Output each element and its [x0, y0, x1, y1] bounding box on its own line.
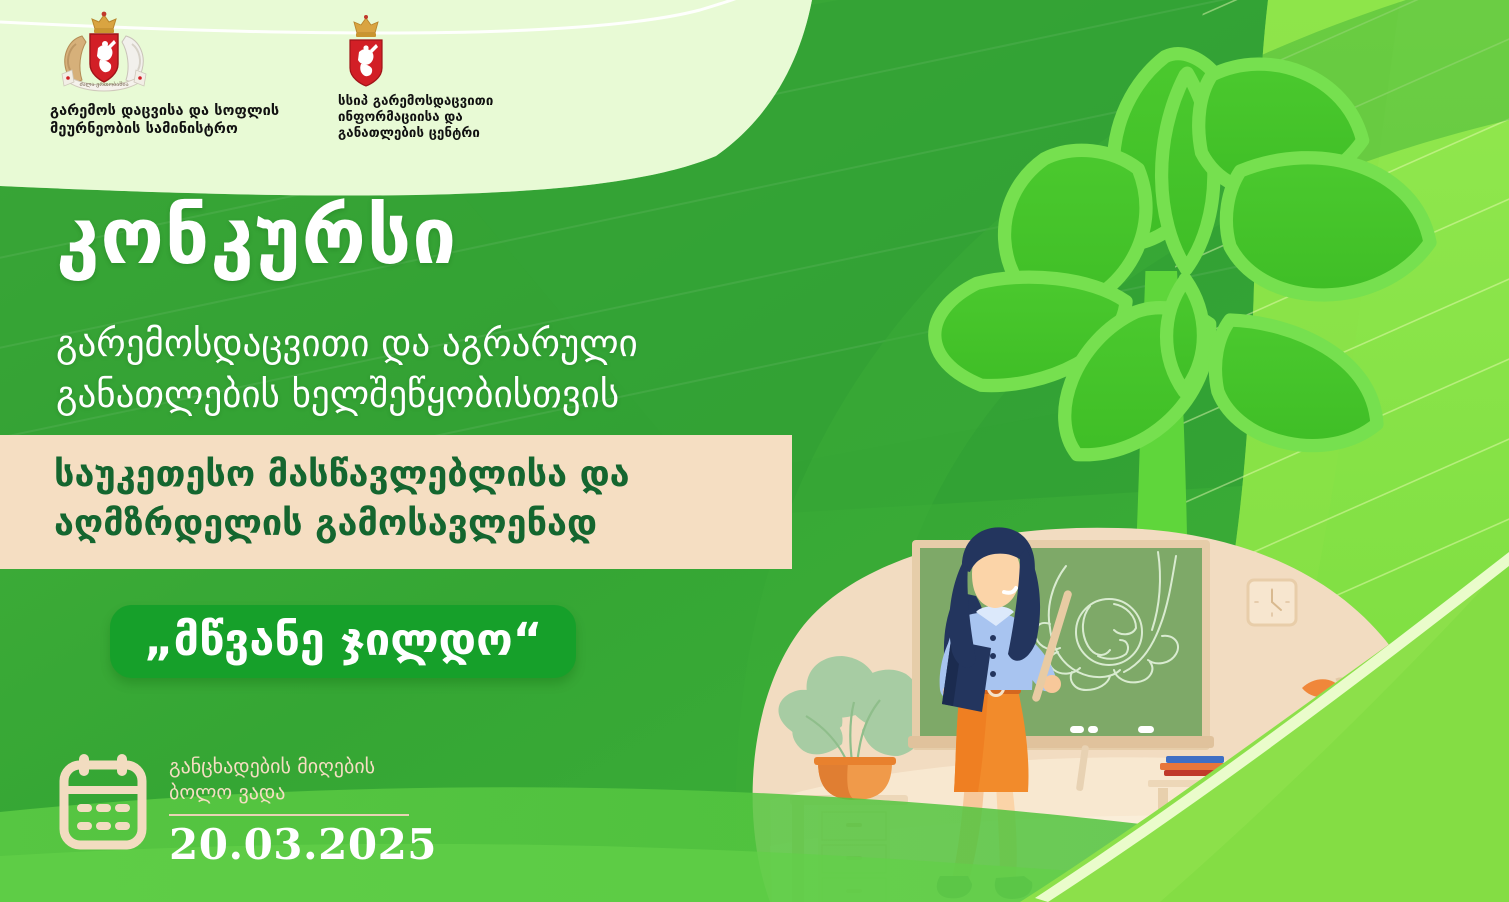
calendar-icon	[55, 752, 151, 856]
georgia-coat-of-arms-icon: ძალა ერთობაშია	[50, 10, 158, 96]
georgia-small-crest-icon	[338, 14, 394, 88]
highlight-banner-text: საუკეთესო მასწავლებლისა და აღმზრდელის გა…	[54, 451, 772, 549]
center-logo-block: სსიპ გარემოსდაცვითი ინფორმაციისა და განა…	[338, 14, 588, 142]
page-title: კონკურსი	[56, 198, 457, 276]
svg-text:ძალა ერთობაშია: ძალა ერთობაშია	[79, 81, 128, 88]
center-logo-label: სსიპ გარემოსდაცვითი ინფორმაციისა და განა…	[338, 94, 493, 142]
page-subtitle: გარემოსდაცვითი და აგრარული განათლების ხე…	[56, 318, 638, 420]
wall-clock	[1248, 580, 1296, 625]
award-name-text: „მწვანე ჯილდო“	[144, 616, 542, 663]
deadline-label: განცხადების მიღების ბოლო ვადა	[169, 754, 437, 805]
deadline-divider	[169, 814, 409, 816]
highlight-banner: საუკეთესო მასწავლებლისა და აღმზრდელის გა…	[0, 435, 792, 569]
poster-root: ძალა ერთობაშია გარემოს დაცვისა და სოფლის…	[0, 0, 1509, 902]
ministry-logo-block: ძალა ერთობაშია გარემოს დაცვისა და სოფლის…	[50, 10, 320, 138]
deadline-block: განცხადების მიღების ბოლო ვადა 20.03.2025	[55, 752, 437, 869]
award-name-pill: „მწვანე ჯილდო“	[110, 605, 576, 678]
ministry-logo-label: გარემოს დაცვისა და სოფლის მეურნეობის სამ…	[50, 103, 279, 138]
deadline-texts: განცხადების მიღების ბოლო ვადა 20.03.2025	[169, 752, 437, 869]
deadline-date: 20.03.2025	[169, 820, 437, 869]
